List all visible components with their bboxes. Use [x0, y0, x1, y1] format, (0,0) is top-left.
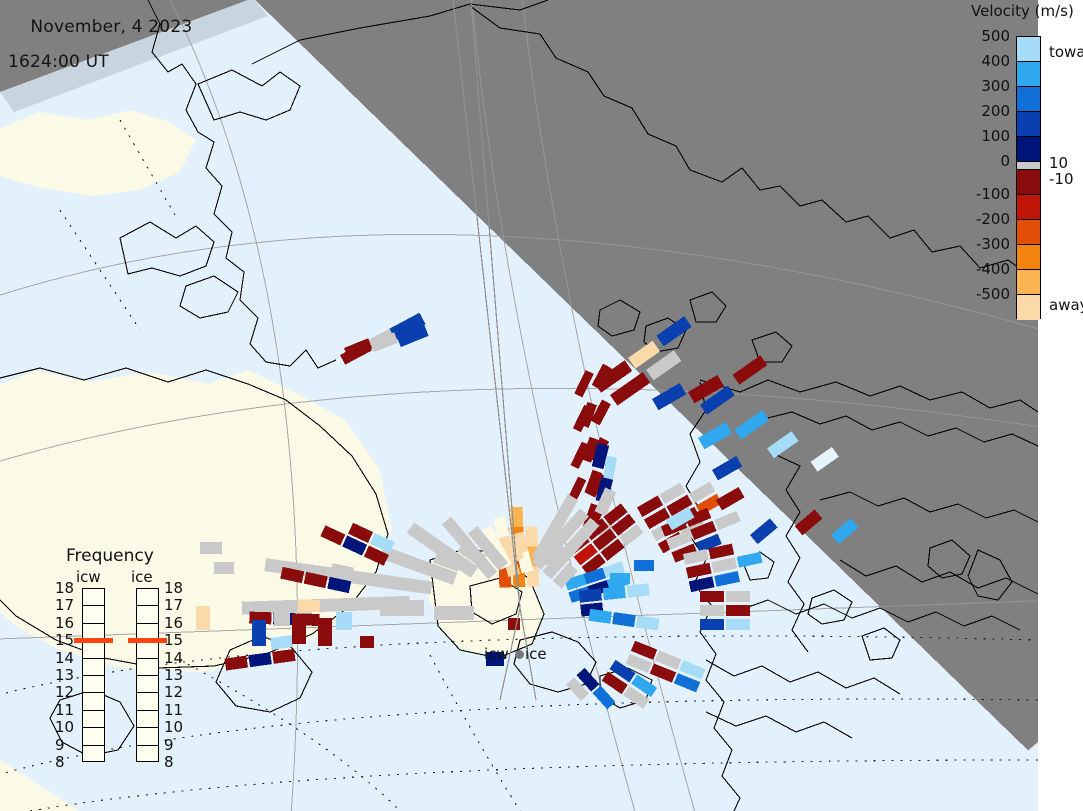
- frequency-column-header-ice: ice: [131, 568, 153, 586]
- frequency-bar-ice[interactable]: [136, 588, 159, 762]
- frequency-tick-label-right: 14: [164, 649, 183, 667]
- colorbar-segment: [1017, 245, 1040, 270]
- colorbar-tick-label: 100: [981, 127, 1010, 145]
- frequency-tick-label-left: 17: [55, 596, 74, 614]
- frequency-cell: [137, 693, 158, 710]
- radar-site-label-ice: ice: [525, 645, 547, 663]
- frequency-bar-icw[interactable]: [82, 588, 105, 762]
- frequency-cell: [137, 676, 158, 693]
- title-time: 1624:00 UT: [8, 54, 192, 71]
- colorbar-segment: [1017, 220, 1040, 245]
- frequency-tick-label-right: 16: [164, 614, 183, 632]
- colorbar-segment: [1017, 62, 1040, 87]
- colorbar-title: Velocity (m/s): [971, 2, 1074, 20]
- frequency-cell: [137, 589, 158, 606]
- frequency-tick-label-left: 10: [55, 718, 74, 736]
- radar-site-label-icw: icw: [484, 645, 509, 663]
- colorbar-tick-label: -200: [976, 210, 1010, 228]
- frequency-cell: [137, 711, 158, 728]
- radar-map-page: icw ice November, 4 2023 1624:00 UT Velo…: [0, 0, 1083, 811]
- frequency-cell: [83, 711, 104, 728]
- colorbar-away-label: away: [1049, 296, 1083, 314]
- frequency-tick-label-left: 18: [55, 579, 74, 597]
- frequency-cell: [137, 659, 158, 676]
- colorbar-segment: [1017, 170, 1040, 195]
- frequency-tick-label-left: 9: [55, 736, 65, 754]
- colorbar-neg-threshold-label: -10: [1049, 170, 1074, 188]
- frequency-cell: [83, 676, 104, 693]
- colorbar-segment: [1017, 37, 1040, 62]
- colorbar-tick-label: -100: [976, 185, 1010, 203]
- frequency-tick-label-left: 8: [55, 753, 65, 771]
- colorbar-tick-label: 400: [981, 52, 1010, 70]
- frequency-tick-label-left: 11: [55, 701, 74, 719]
- colorbar-segment: [1017, 295, 1040, 320]
- frequency-marker-icw: [74, 638, 113, 643]
- frequency-tick-label-right: 11: [164, 701, 183, 719]
- frequency-tick-label-right: 13: [164, 666, 183, 684]
- frequency-tick-label-left: 15: [55, 631, 74, 649]
- velocity-colorbar[interactable]: [1016, 36, 1041, 319]
- colorbar-tick-label: 500: [981, 27, 1010, 45]
- frequency-cell: [137, 606, 158, 623]
- frequency-cell: [83, 641, 104, 658]
- timestamp-title: November, 4 2023 1624:00 UT: [8, 2, 192, 105]
- colorbar-segment: [1017, 87, 1040, 112]
- colorbar-tick-label: 300: [981, 77, 1010, 95]
- colorbar-tick-label: -300: [976, 235, 1010, 253]
- frequency-cell: [83, 606, 104, 623]
- frequency-cell: [83, 746, 104, 763]
- frequency-tick-label-left: 14: [55, 649, 74, 667]
- colorbar-segment: [1017, 112, 1040, 137]
- colorbar-segment: [1017, 195, 1040, 220]
- radar-site-marker: [515, 650, 524, 659]
- frequency-tick-label-left: 13: [55, 666, 74, 684]
- frequency-cell: [137, 641, 158, 658]
- frequency-marker-ice: [128, 638, 167, 643]
- colorbar-tick-label: 0: [1000, 152, 1010, 170]
- colorbar-segment: [1017, 137, 1040, 162]
- colorbar-tick-label: -400: [976, 260, 1010, 278]
- title-date: November, 4 2023: [30, 17, 192, 37]
- frequency-tick-label-right: 18: [164, 579, 183, 597]
- frequency-legend-title: Frequency: [66, 546, 154, 566]
- frequency-tick-label-right: 9: [164, 736, 174, 754]
- colorbar-segment: [1017, 270, 1040, 295]
- frequency-cell: [83, 589, 104, 606]
- frequency-tick-label-left: 16: [55, 614, 74, 632]
- frequency-tick-label-right: 10: [164, 718, 183, 736]
- frequency-cell: [83, 693, 104, 710]
- colorbar-tick-label: -500: [976, 285, 1010, 303]
- frequency-column-header-icw: icw: [76, 568, 101, 586]
- frequency-tick-label-left: 12: [55, 683, 74, 701]
- frequency-cell: [137, 746, 158, 763]
- frequency-tick-label-right: 8: [164, 753, 174, 771]
- frequency-cell: [83, 659, 104, 676]
- colorbar-tick-label: 200: [981, 102, 1010, 120]
- frequency-cell: [83, 728, 104, 745]
- frequency-cell: [137, 728, 158, 745]
- frequency-tick-label-right: 12: [164, 683, 183, 701]
- colorbar-segment: [1017, 162, 1040, 170]
- frequency-tick-label-right: 17: [164, 596, 183, 614]
- colorbar-toward-label: toward: [1049, 43, 1083, 61]
